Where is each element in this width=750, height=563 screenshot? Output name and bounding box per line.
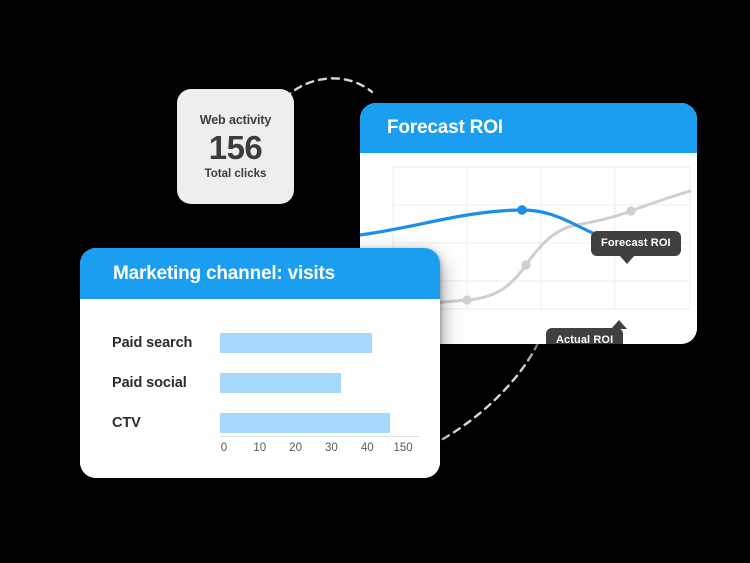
connector-forecast-to-marketing [432,343,538,445]
series-actual-roi-line [360,210,628,244]
x-tick-5: 150 [385,442,421,454]
bar-chart-axis-line [220,436,420,437]
forecast-card-header: Forecast ROI [360,103,697,153]
tooltip-forecast-roi-label: Forecast ROI [601,237,671,249]
bar-label-paid-search: Paid search [112,335,220,351]
series-forecast-roi-marker [521,260,530,269]
screenshot-canvas: Web activity 156 Total clicks Forecast R… [0,0,750,563]
series-forecast-roi-marker [462,295,471,304]
x-tick-3: 30 [313,442,349,454]
marketing-bar-chart: Paid search Paid social CTV 0 10 20 30 4… [80,299,440,478]
x-tick-0: 0 [206,442,242,454]
web-activity-card: Web activity 156 Total clicks [177,89,294,204]
marketing-card-title: Marketing channel: visits [113,263,335,285]
bar-ctv [220,413,390,433]
tooltip-pointer-up-icon [611,320,627,329]
bar-paid-social [220,373,341,393]
series-forecast-roi-marker [626,206,635,215]
x-tick-2: 20 [278,442,314,454]
x-tick-4: 40 [349,442,385,454]
marketing-card-header: Marketing channel: visits [80,248,440,299]
tooltip-pointer-down-icon [619,255,635,264]
bar-paid-search [220,333,372,353]
x-tick-1: 10 [242,442,278,454]
web-activity-subtitle: Total clicks [205,168,267,180]
bar-label-ctv: CTV [112,415,220,431]
bar-label-paid-social: Paid social [112,375,220,391]
series-actual-roi-marker [517,205,527,215]
marketing-channel-card: Marketing channel: visits Paid search Pa… [80,248,440,478]
bar-chart-x-axis-ticks: 0 10 20 30 40 150 [206,442,421,454]
forecast-card-title: Forecast ROI [387,117,503,139]
web-activity-value: 156 [209,129,263,168]
tooltip-actual-roi-label: Actual ROI [556,334,613,344]
web-activity-title: Web activity [200,113,272,127]
tooltip-forecast-roi: Forecast ROI [591,231,681,256]
tooltip-actual-roi: Actual ROI [546,328,623,344]
connector-web-activity-to-forecast [285,78,372,98]
